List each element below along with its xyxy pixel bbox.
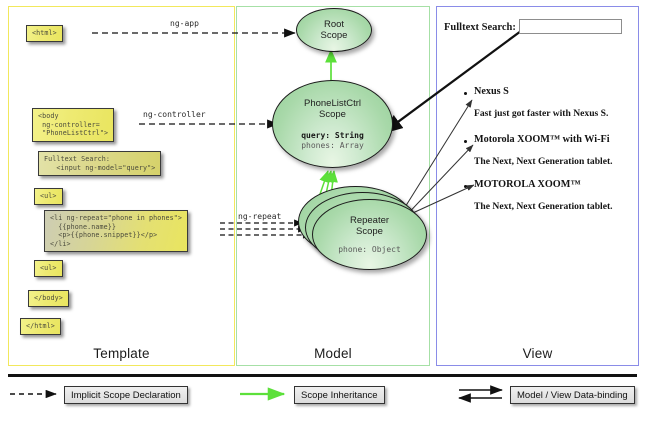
scope-repeater-title-1: Repeater (350, 215, 389, 226)
view-bullet-0 (464, 92, 467, 95)
diagram-canvas: Template Model View (0, 0, 645, 425)
view-phone-name-2: MOTOROLA XOOM™ (474, 179, 581, 190)
scope-phonelistctrl-title-2: Scope (319, 109, 346, 120)
legend-implicit-scope-declaration: Implicit Scope Declaration (64, 386, 188, 404)
edge-label-ng-app: ng-app (170, 19, 199, 28)
scope-repeater-title-2: Scope (356, 226, 383, 237)
edge-label-ng-controller: ng-controller (143, 110, 206, 119)
scope-repeater-prop-phone: phone: Object (338, 245, 401, 255)
legend-divider (8, 374, 637, 377)
code-block-html-close: </html> (20, 318, 61, 335)
scope-phonelistctrl-prop-phones: phones: Array (301, 141, 364, 151)
scope-repeater: Repeater Scope phone: Object (312, 199, 427, 270)
view-phone-name-1: Motorola XOOM™ with Wi-Fi (474, 134, 610, 145)
view-bullet-2 (464, 185, 467, 188)
column-label-view: View (437, 346, 638, 361)
view-phone-snippet-2: The Next, Next Generation tablet. (474, 201, 613, 212)
view-phone-snippet-0: Fast just got faster with Nexus S. (474, 108, 608, 119)
scope-phonelistctrl-prop-query: query: String (301, 131, 364, 141)
code-block-fulltext-search: Fulltext Search: <input ng-model="query"… (38, 151, 161, 176)
scope-root-title-1: Root (324, 19, 344, 30)
view-search-input[interactable] (519, 19, 622, 34)
scope-phonelistctrl: PhoneListCtrl Scope query: String phones… (272, 80, 393, 168)
code-block-ul-close: <ul> (34, 260, 63, 277)
legend-model-view-data-binding: Model / View Data-binding (510, 386, 635, 404)
edge-label-ng-repeat: ng-repeat (238, 212, 281, 221)
view-phone-snippet-1: The Next, Next Generation tablet. (474, 156, 613, 167)
column-model: Model (236, 6, 430, 366)
view-search-label: Fulltext Search: (444, 22, 516, 33)
column-label-model: Model (237, 346, 429, 361)
legend-scope-inheritance: Scope Inheritance (294, 386, 385, 404)
view-bullet-1 (464, 140, 467, 143)
code-block-html-open: <html> (26, 25, 63, 42)
code-block-li-ng-repeat: <li ng-repeat="phone in phones"> {{phone… (44, 210, 188, 252)
scope-phonelistctrl-title-1: PhoneListCtrl (304, 98, 361, 109)
code-block-body-controller: <body ng-controller= "PhoneListCtrl"> (32, 108, 114, 142)
column-template: Template (8, 6, 235, 366)
scope-root-title-2: Scope (321, 30, 348, 41)
view-phone-name-0: Nexus S (474, 86, 509, 97)
code-block-ul-open: <ul> (34, 188, 63, 205)
legend: Implicit Scope Declaration Scope Inherit… (8, 374, 637, 418)
code-block-body-close: </body> (28, 290, 69, 307)
scope-root: Root Scope (296, 8, 372, 52)
column-label-template: Template (9, 346, 234, 361)
